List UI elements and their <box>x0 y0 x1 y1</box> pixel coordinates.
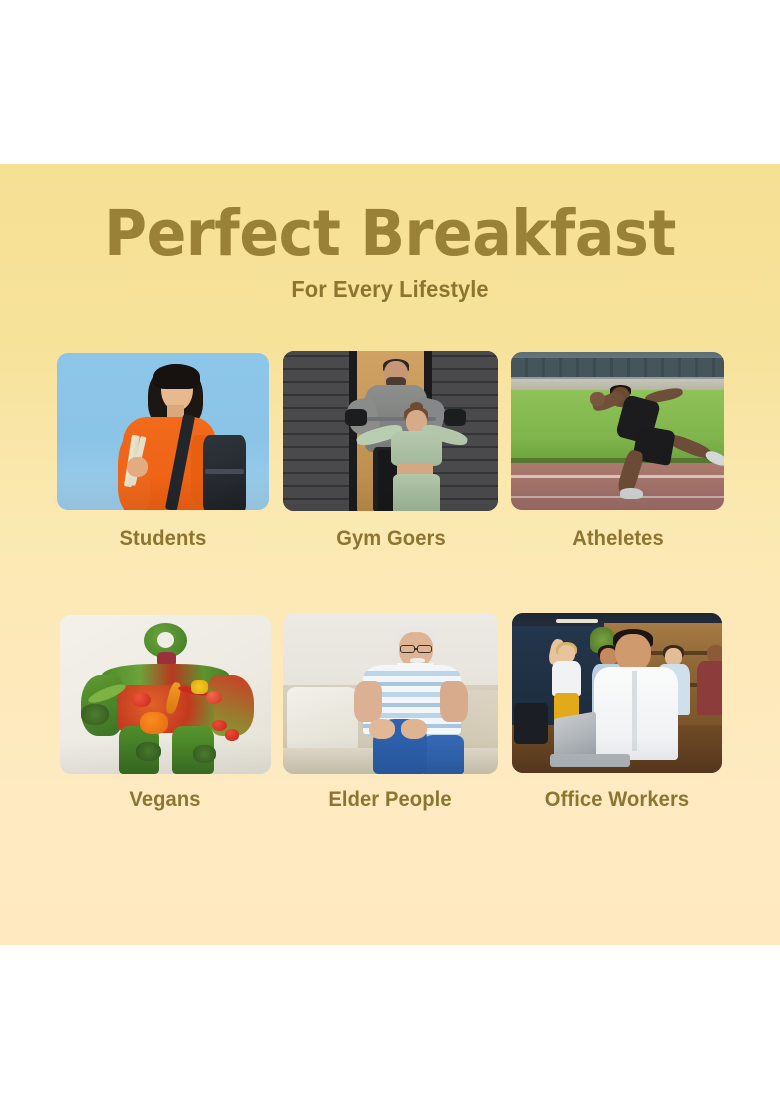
card-image-vegans[interactable] <box>60 615 271 774</box>
card-label-atheletes: Atheletes <box>497 526 739 552</box>
sprinter-running-on-track-photo <box>511 352 724 510</box>
card-image-office-workers[interactable] <box>512 613 722 773</box>
card-label-gym-goers: Gym Goers <box>270 526 512 552</box>
card-image-students[interactable] <box>57 353 269 510</box>
card-image-gym-goers[interactable] <box>283 351 498 511</box>
office-worker-with-laptop-and-colleagues-photo <box>512 613 722 773</box>
card-image-atheletes[interactable] <box>511 352 724 510</box>
card-image-elder-people[interactable] <box>283 613 498 774</box>
elderly-man-on-sofa-holding-knee-photo <box>283 613 498 774</box>
card-label-office-workers: Office Workers <box>496 787 738 813</box>
card-label-vegans: Vegans <box>44 787 286 813</box>
student-woman-orange-sweater-backpack-photo <box>57 353 269 510</box>
card-label-students: Students <box>42 526 284 552</box>
page-title: Perfect Breakfast <box>27 196 752 272</box>
poster-canvas: Perfect Breakfast For Every Lifestyle St… <box>0 0 780 1108</box>
vegetables-arranged-as-human-figure-photo <box>60 615 271 774</box>
gym-trainer-and-woman-dumbbells-photo <box>283 351 498 511</box>
page-subtitle: For Every Lifestyle <box>20 274 761 304</box>
card-label-elder-people: Elder People <box>269 787 511 813</box>
